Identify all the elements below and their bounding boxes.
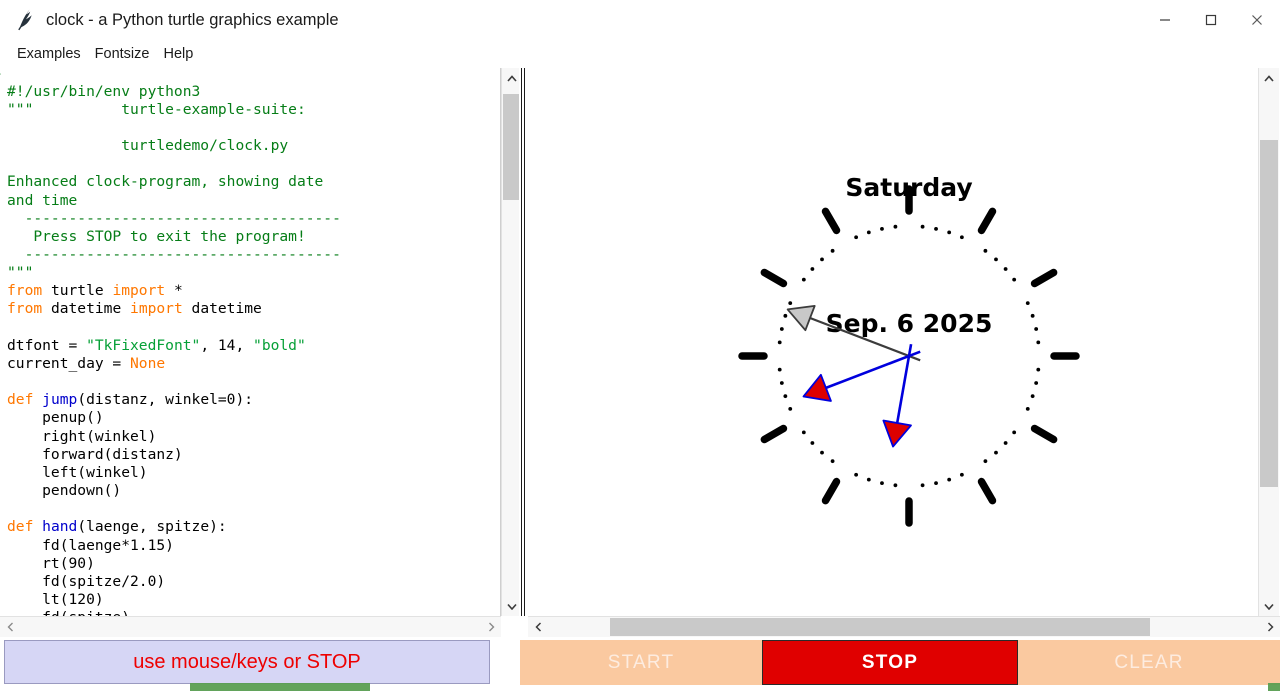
window-controls — [1142, 0, 1280, 40]
minute-dot — [820, 257, 824, 261]
minute-dot — [960, 473, 964, 477]
minute-dot — [1026, 407, 1030, 411]
minute-dot — [854, 235, 858, 239]
minute-dot — [894, 483, 898, 487]
code-token: import — [112, 282, 165, 299]
maximize-button[interactable] — [1188, 0, 1234, 40]
pane-sash-divider[interactable] — [519, 68, 527, 616]
code-token: fd(spitze/2.0) — [7, 573, 165, 590]
hour-mark — [826, 211, 837, 230]
minute-dot — [921, 225, 925, 229]
code-token: None — [130, 355, 165, 372]
hour-mark — [1035, 429, 1054, 440]
code-token: #!/usr/bin/env python3 — [7, 83, 200, 100]
minute-dot — [820, 451, 824, 455]
minute-dot — [984, 459, 988, 463]
minute-dot — [960, 235, 964, 239]
python-feather-icon — [12, 6, 40, 34]
status-bar: use mouse/keys or STOP — [4, 640, 490, 684]
minute-dot — [831, 249, 835, 253]
minute-dot — [934, 227, 938, 231]
python-source-text: #!/usr/bin/env python3 """ turtle-exampl… — [7, 83, 341, 616]
menu-fontsize[interactable]: Fontsize — [88, 44, 157, 64]
code-token: Press STOP to exit the program! — [7, 228, 306, 245]
second-hand-head — [788, 306, 815, 330]
code-token: dtfont = — [7, 337, 86, 354]
code-token: import — [130, 300, 183, 317]
minute-dot — [810, 267, 814, 271]
code-token: Enhanced clock-program, showing date — [7, 173, 323, 190]
canvas-scroll-down-icon[interactable] — [1259, 596, 1279, 616]
code-scroll-right-icon[interactable] — [481, 617, 501, 637]
status-message: use mouse/keys or STOP — [133, 651, 361, 674]
minute-hand-head — [804, 375, 831, 401]
minute-dot — [780, 381, 784, 385]
code-token: turtle — [42, 282, 112, 299]
start-button[interactable]: START — [520, 640, 762, 685]
code-token: left(winkel) — [7, 464, 148, 481]
minute-dot — [1031, 394, 1035, 398]
code-token: "bold" — [253, 337, 306, 354]
hour-mark — [982, 211, 993, 230]
clock-drawing: Saturday Sep. 6 2025 — [528, 68, 1250, 616]
code-token: """ — [7, 264, 33, 281]
minute-dot — [854, 473, 858, 477]
hour-mark — [1035, 273, 1054, 284]
close-button[interactable] — [1234, 0, 1280, 40]
code-token: lt(120) — [7, 591, 104, 608]
code-token: penup() — [7, 409, 104, 426]
code-token: turtledemo/clock.py — [7, 137, 288, 154]
minute-dot — [947, 230, 951, 234]
minute-dot — [802, 431, 806, 435]
code-token: pendown() — [7, 482, 121, 499]
canvas-scroll-up-icon[interactable] — [1259, 68, 1279, 88]
hour-mark — [764, 273, 783, 284]
minute-dot — [880, 481, 884, 485]
menu-help[interactable]: Help — [156, 44, 200, 64]
hour-mark — [826, 482, 837, 501]
minute-dot — [984, 249, 988, 253]
minute-dot — [1004, 441, 1008, 445]
code-token: ------------------------------------ — [7, 210, 341, 227]
minute-dot — [867, 230, 871, 234]
menu-examples[interactable]: Examples — [10, 44, 88, 64]
canvas-scroll-thumb[interactable] — [1260, 140, 1278, 487]
minute-dot — [1026, 301, 1030, 305]
minute-dot — [867, 478, 871, 482]
code-token: turtle-example-suite: — [33, 101, 305, 118]
code-scroll-left-icon[interactable] — [0, 617, 20, 637]
code-token — [33, 391, 42, 408]
canvas-scroll-left-icon[interactable] — [528, 617, 548, 637]
code-token: rt(90) — [7, 555, 95, 572]
minute-dot — [994, 257, 998, 261]
code-token: def — [7, 518, 33, 535]
turtledemo-window: clock - a Python turtle graphics example… — [0, 0, 1280, 691]
code-token — [33, 518, 42, 535]
code-token: jump — [42, 391, 77, 408]
canvas-horizontal-scrollbar[interactable] — [528, 616, 1280, 637]
code-token: forward(distanz) — [7, 446, 183, 463]
minute-dot — [994, 451, 998, 455]
code-horizontal-scrollbar[interactable] — [0, 616, 501, 637]
minute-dot — [921, 483, 925, 487]
stop-button[interactable]: STOP — [762, 640, 1018, 685]
minute-dot — [783, 314, 787, 318]
code-token: * — [165, 282, 183, 299]
window-title: clock - a Python turtle graphics example — [46, 11, 339, 30]
control-button-row: START STOP CLEAR — [520, 640, 1280, 685]
code-token: """ — [7, 101, 33, 118]
code-token: from — [7, 282, 42, 299]
minute-dot — [1034, 381, 1038, 385]
minute-dot — [788, 407, 792, 411]
minute-dot — [778, 368, 782, 372]
code-token: current_day = — [7, 355, 130, 372]
code-token: ------------------------------------ — [7, 246, 341, 263]
code-token: def — [7, 391, 33, 408]
minute-dot — [778, 341, 782, 345]
clear-button[interactable]: CLEAR — [1018, 640, 1280, 685]
code-token: hand — [42, 518, 77, 535]
hour-mark — [764, 429, 783, 440]
code-gutter-ghost: # " E a " f f d c d d — [0, 68, 1, 613]
code-token: "TkFixedFont" — [86, 337, 200, 354]
code-token: fd(spitze) — [7, 609, 130, 616]
title-bar: clock - a Python turtle graphics example — [0, 0, 1280, 40]
code-token: and time — [7, 192, 77, 209]
hour-mark — [982, 482, 993, 501]
code-token: from — [7, 300, 42, 317]
source-code-viewer[interactable]: # " E a " f f d c d d #!/usr/bin/env pyt… — [0, 68, 501, 616]
minute-dot — [1012, 278, 1016, 282]
code-token: (distanz, winkel=0): — [77, 391, 253, 408]
minute-dot — [880, 227, 884, 231]
minute-dot — [1036, 368, 1040, 372]
minute-dot — [947, 478, 951, 482]
minute-dot — [894, 225, 898, 229]
canvas-vertical-scrollbar[interactable] — [1258, 68, 1279, 616]
desktop-artifact — [190, 683, 370, 691]
minute-dot — [1012, 431, 1016, 435]
hour-hand-shaft — [897, 344, 911, 423]
minimize-button[interactable] — [1142, 0, 1188, 40]
code-token: fd(laenge*1.15) — [7, 537, 174, 554]
menu-bar: Examples Fontsize Help — [0, 40, 1280, 68]
minute-dot — [780, 327, 784, 331]
minute-dot — [1036, 341, 1040, 345]
code-token: , 14, — [200, 337, 253, 354]
minute-dot — [788, 301, 792, 305]
minute-dot — [934, 481, 938, 485]
minute-dot — [1031, 314, 1035, 318]
minute-dot — [810, 441, 814, 445]
clock-day-label: Saturday — [845, 173, 972, 202]
minute-dot — [802, 278, 806, 282]
code-token: datetime — [42, 300, 130, 317]
hour-hand-head — [883, 421, 911, 447]
desktop-artifact-2 — [1268, 683, 1280, 691]
code-token: right(winkel) — [7, 428, 156, 445]
canvas-scroll-right-icon[interactable] — [1260, 617, 1280, 637]
code-token: (laenge, spitze): — [77, 518, 226, 535]
minute-dot — [1004, 267, 1008, 271]
turtle-canvas-pane[interactable]: Saturday Sep. 6 2025 — [528, 68, 1250, 616]
canvas-scroll-thumb[interactable] — [610, 618, 1150, 636]
minute-dot — [1034, 327, 1038, 331]
main-split-pane: # " E a " f f d c d d #!/usr/bin/env pyt… — [0, 68, 1280, 691]
minute-dot — [831, 459, 835, 463]
minute-dot — [783, 394, 787, 398]
code-token: datetime — [183, 300, 262, 317]
